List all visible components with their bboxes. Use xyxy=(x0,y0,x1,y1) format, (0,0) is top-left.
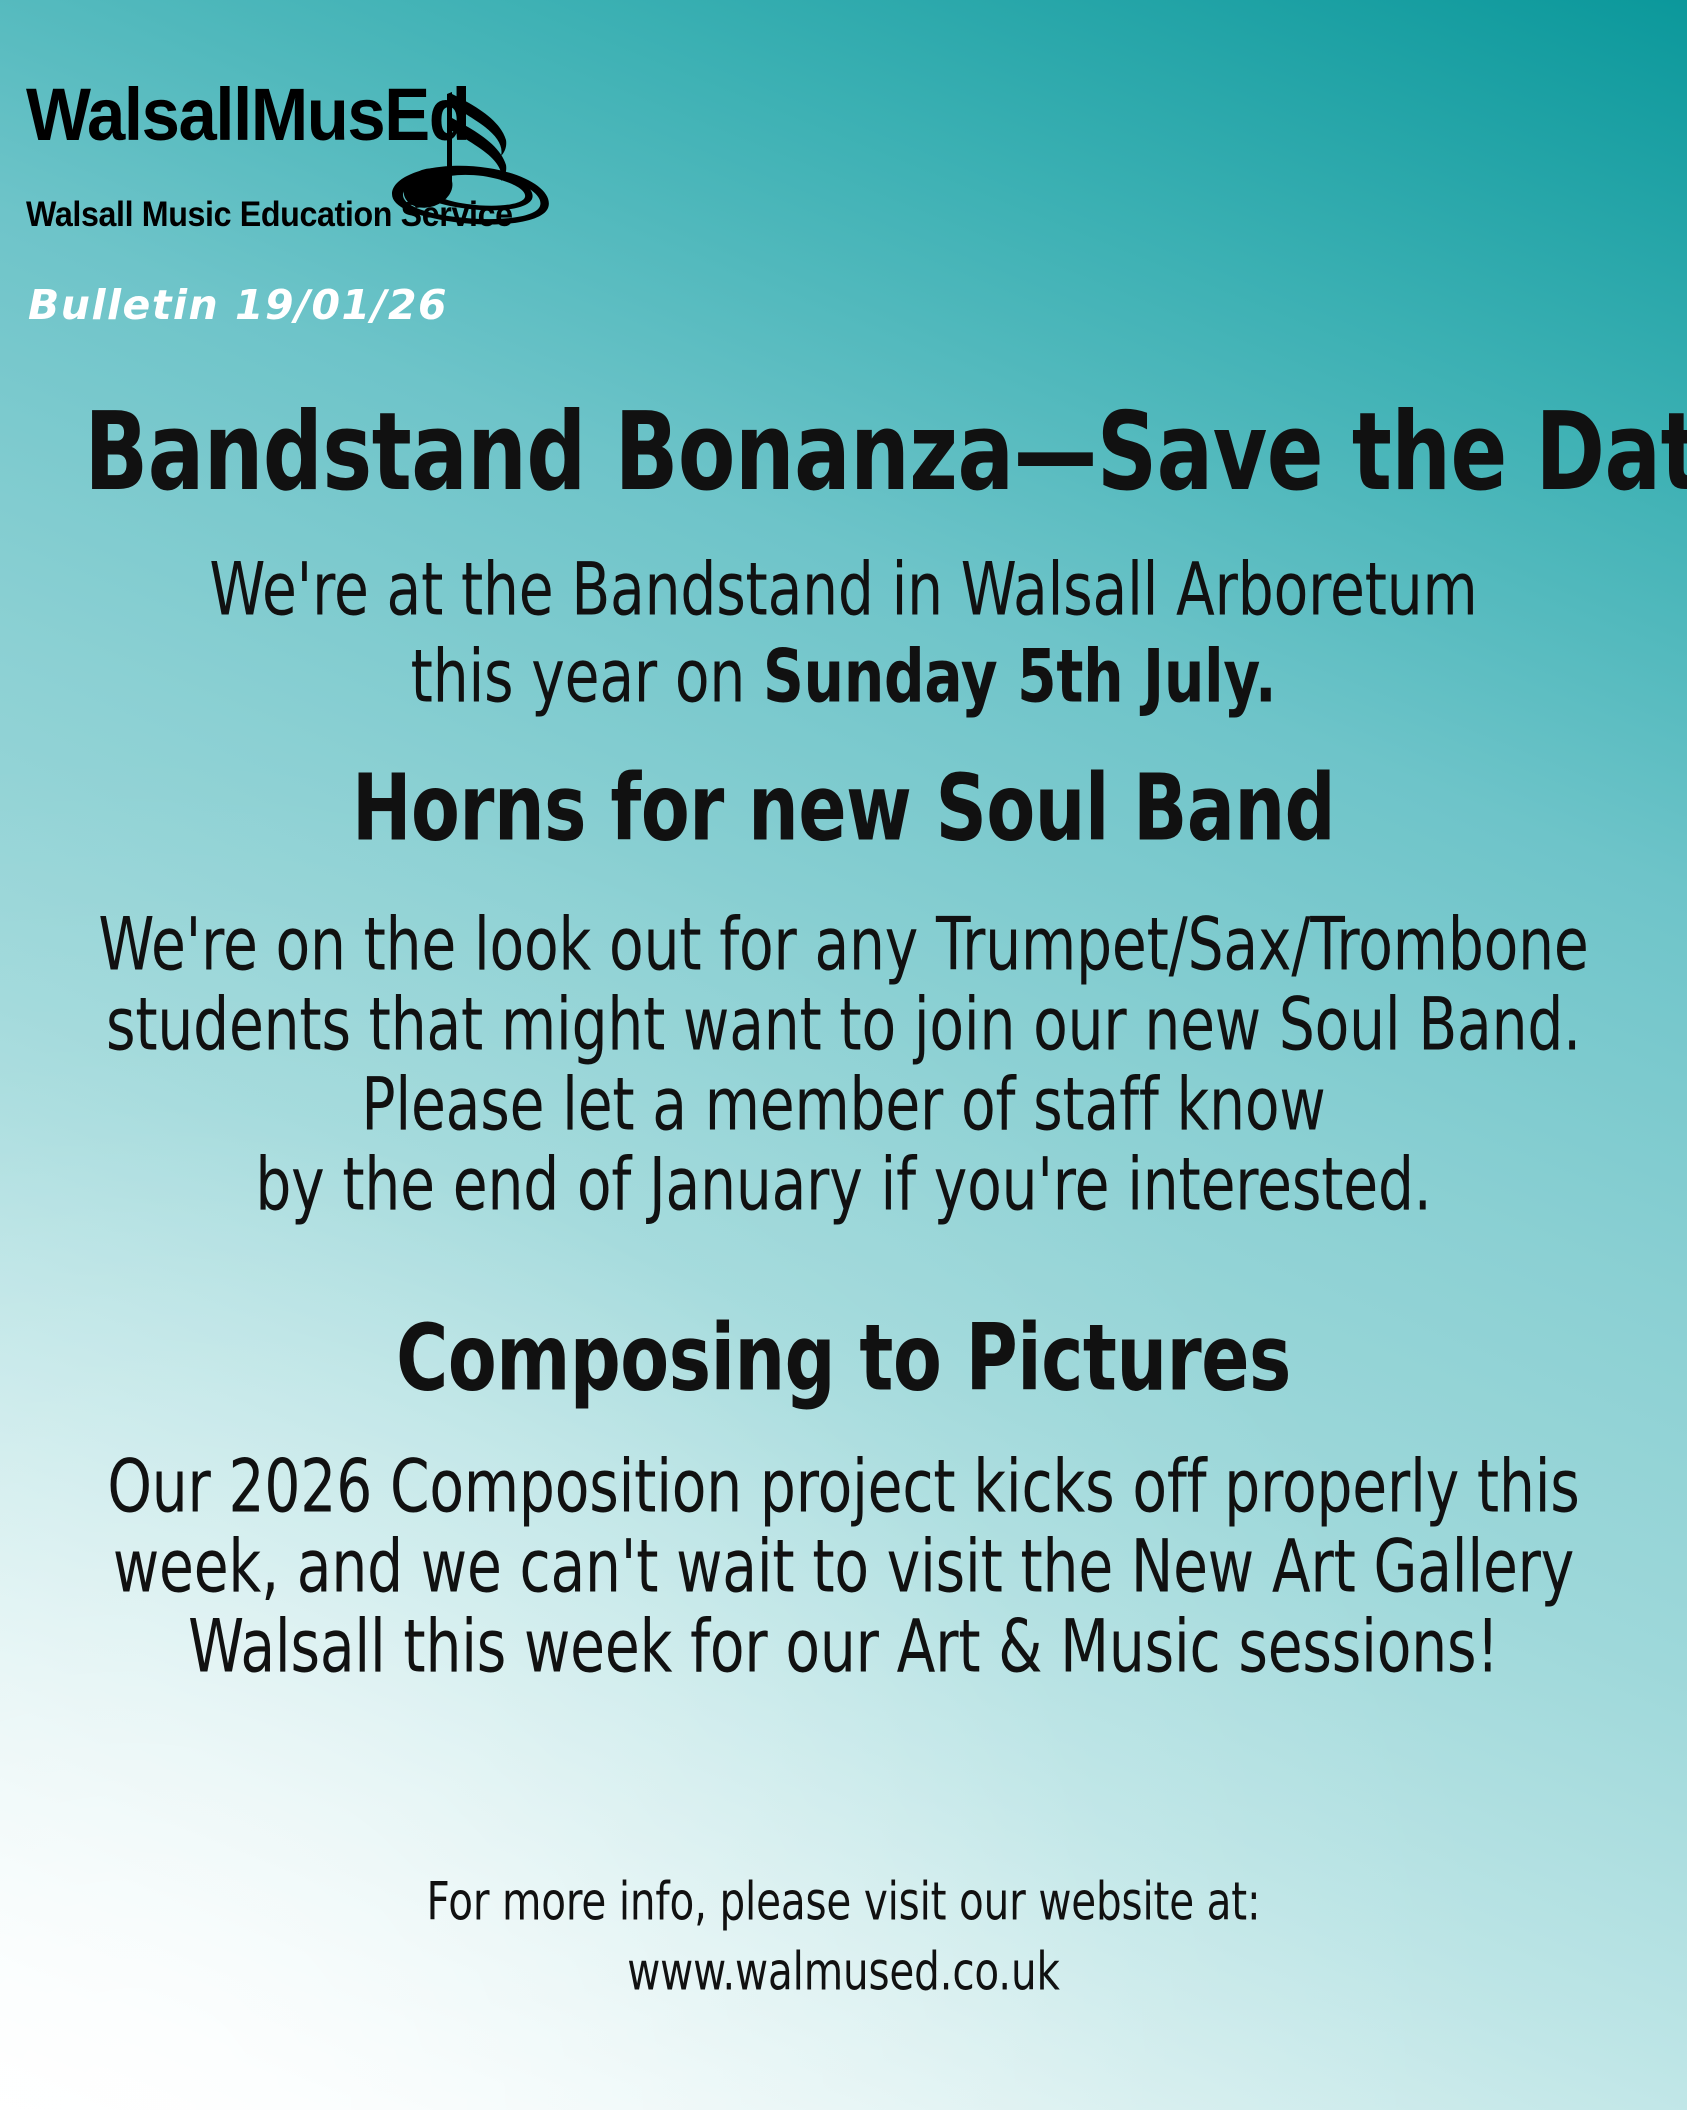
section-heading-horns: Horns for new Soul Band xyxy=(84,755,1602,862)
horns-text-line-2: students that might want to join our new… xyxy=(84,982,1602,1067)
composing-text-line-3: Walsall this week for our Art & Music se… xyxy=(84,1604,1602,1689)
horns-text-line-3: Please let a member of staff know xyxy=(84,1062,1602,1147)
bandstand-text-line-1: We're at the Bandstand in Walsall Arbore… xyxy=(84,547,1602,632)
section-heading-composing: Composing to Pictures xyxy=(84,1305,1602,1412)
composing-text-line-2: week, and we can't wait to visit the New… xyxy=(84,1524,1602,1609)
horns-text-line-4: by the end of January if you're interest… xyxy=(84,1142,1602,1227)
section-heading-bandstand: Bandstand Bonanza—Save the Date! xyxy=(84,389,1602,514)
footer-info-text: For more info, please visit our website … xyxy=(84,1871,1602,1932)
bandstand-line-2-prefix: this year on xyxy=(411,634,763,719)
horns-text-line-1: We're on the look out for any Trumpet/Sa… xyxy=(84,902,1602,987)
bandstand-text-line-2: this year on Sunday 5th July. xyxy=(84,634,1602,719)
poster-canvas: WalsallMusEd xyxy=(0,0,1687,2110)
bulletin-date: Bulletin 19/01/26 xyxy=(28,281,448,329)
composing-text-line-1: Our 2026 Composition project kicks off p… xyxy=(84,1444,1602,1529)
footer-website-url[interactable]: www.walmused.co.uk xyxy=(84,1941,1602,2002)
brand-logo: WalsallMusEd xyxy=(26,78,666,235)
brand-tagline: Walsall Music Education Service xyxy=(26,195,615,235)
bandstand-event-date: Sunday 5th July. xyxy=(763,634,1276,719)
